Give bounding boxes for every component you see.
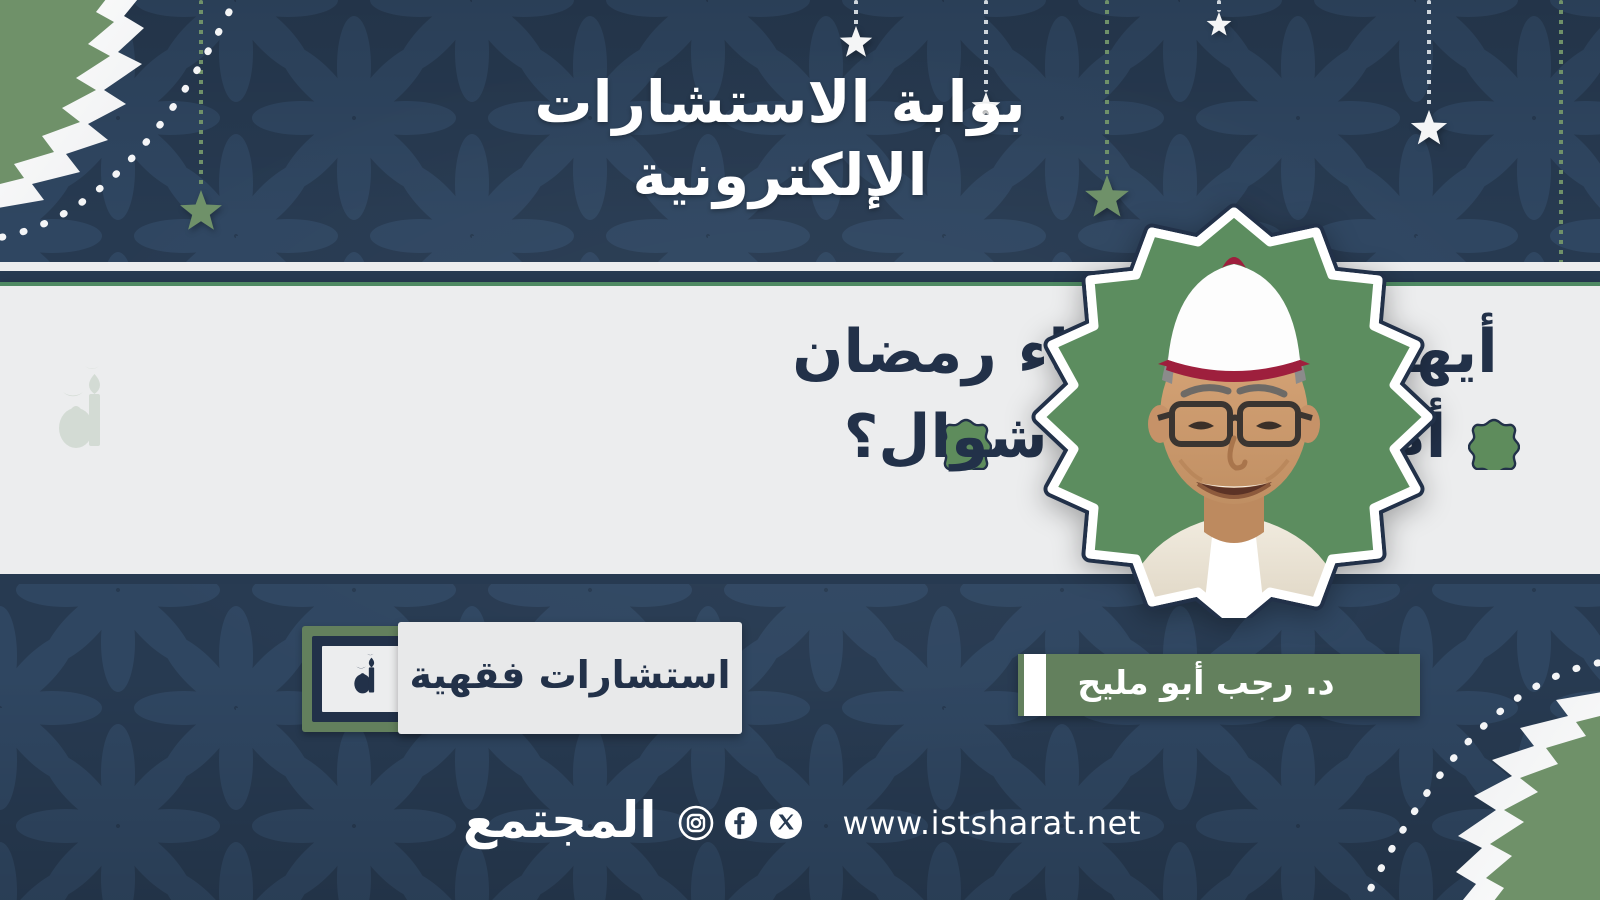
star-icon (1206, 12, 1232, 38)
plaque-label: استشارات فقهية (398, 622, 742, 734)
plaque-icon-box (322, 646, 406, 712)
speaker-name: د. رجب أبو مليح (1077, 666, 1360, 704)
social-link-facebook[interactable] (723, 805, 759, 841)
star-cord (1217, 0, 1221, 12)
poster-canvas: بوابة الاستشارات الإلكترونية (0, 0, 1600, 900)
facebook-icon (723, 805, 759, 841)
star-cord (854, 0, 858, 26)
social-links (678, 805, 804, 841)
crescent-minaret-icon (335, 648, 393, 710)
torn-paper-corner-top-left (0, 0, 242, 213)
social-link-x[interactable] (768, 805, 804, 841)
speaker-portrait (1008, 198, 1460, 618)
star-icon (1410, 110, 1448, 148)
page-title: بوابة الاستشارات الإلكترونية (430, 66, 1130, 211)
plaque-label-text: استشارات فقهية (409, 656, 730, 700)
star-icon (179, 190, 223, 234)
social-link-instagram[interactable] (678, 805, 714, 841)
footer: المجتمع (0, 780, 1600, 866)
brand-logo: المجتمع (463, 795, 657, 851)
star-cord (199, 0, 203, 190)
star-cord (1427, 0, 1431, 110)
name-badge-accent-bar (1024, 654, 1046, 716)
instagram-icon (678, 805, 714, 841)
x-twitter-icon (768, 805, 804, 841)
website-url[interactable]: www.istsharat.net (842, 804, 1141, 842)
dotted-arc-top-left (0, 0, 270, 274)
speaker-name-badge: د. رجب أبو مليح (1018, 654, 1420, 716)
star-icon (839, 26, 873, 60)
section-plaque: استشارات فقهية (302, 622, 742, 740)
